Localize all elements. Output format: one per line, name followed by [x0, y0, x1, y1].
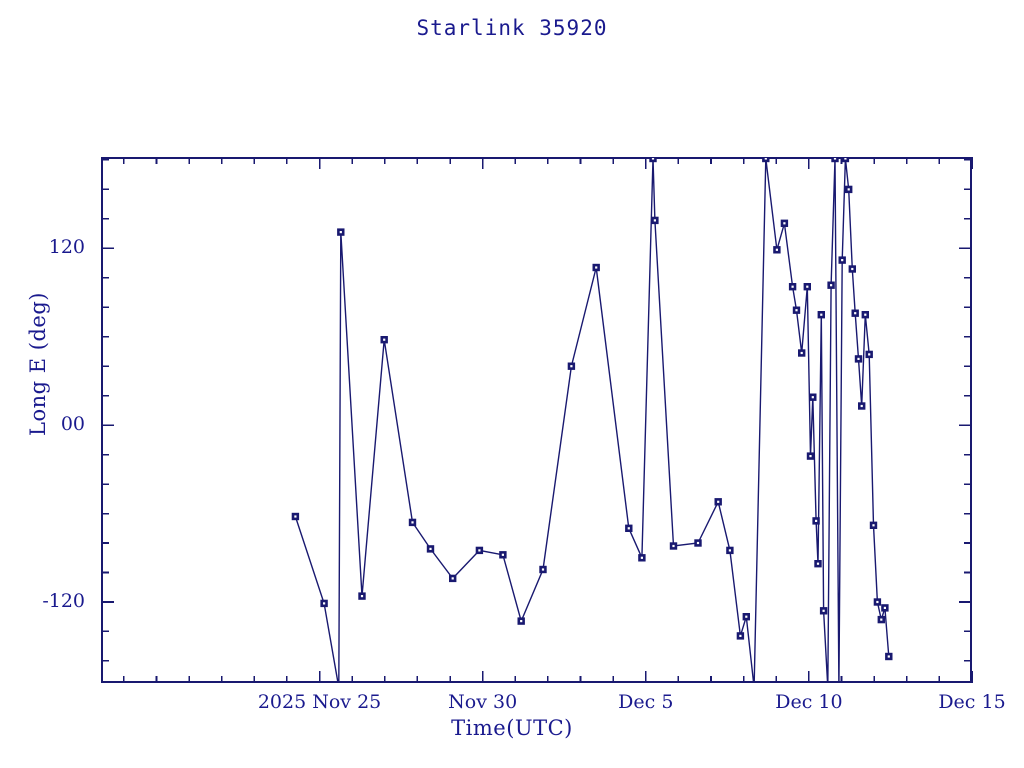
x-tick-label: Nov 30: [403, 691, 563, 713]
y-axis-title: Long E (deg): [26, 264, 50, 464]
y-tick-label: -120: [5, 590, 85, 612]
y-tick-label: 120: [5, 236, 85, 258]
plot-canvas: [0, 0, 1024, 768]
x-tick-label: Dec 15: [892, 691, 1024, 713]
chart-page: Starlink 35920 12000-120 2025 Nov 25Nov …: [0, 0, 1024, 768]
x-tick-label: Dec 5: [566, 691, 726, 713]
x-axis-title: Time(UTC): [0, 716, 1024, 740]
data-point-markers: [292, 155, 892, 690]
x-tick-label: 2025 Nov 25: [240, 691, 400, 713]
data-line-series: [295, 159, 888, 688]
x-tick-label: Dec 10: [729, 691, 889, 713]
